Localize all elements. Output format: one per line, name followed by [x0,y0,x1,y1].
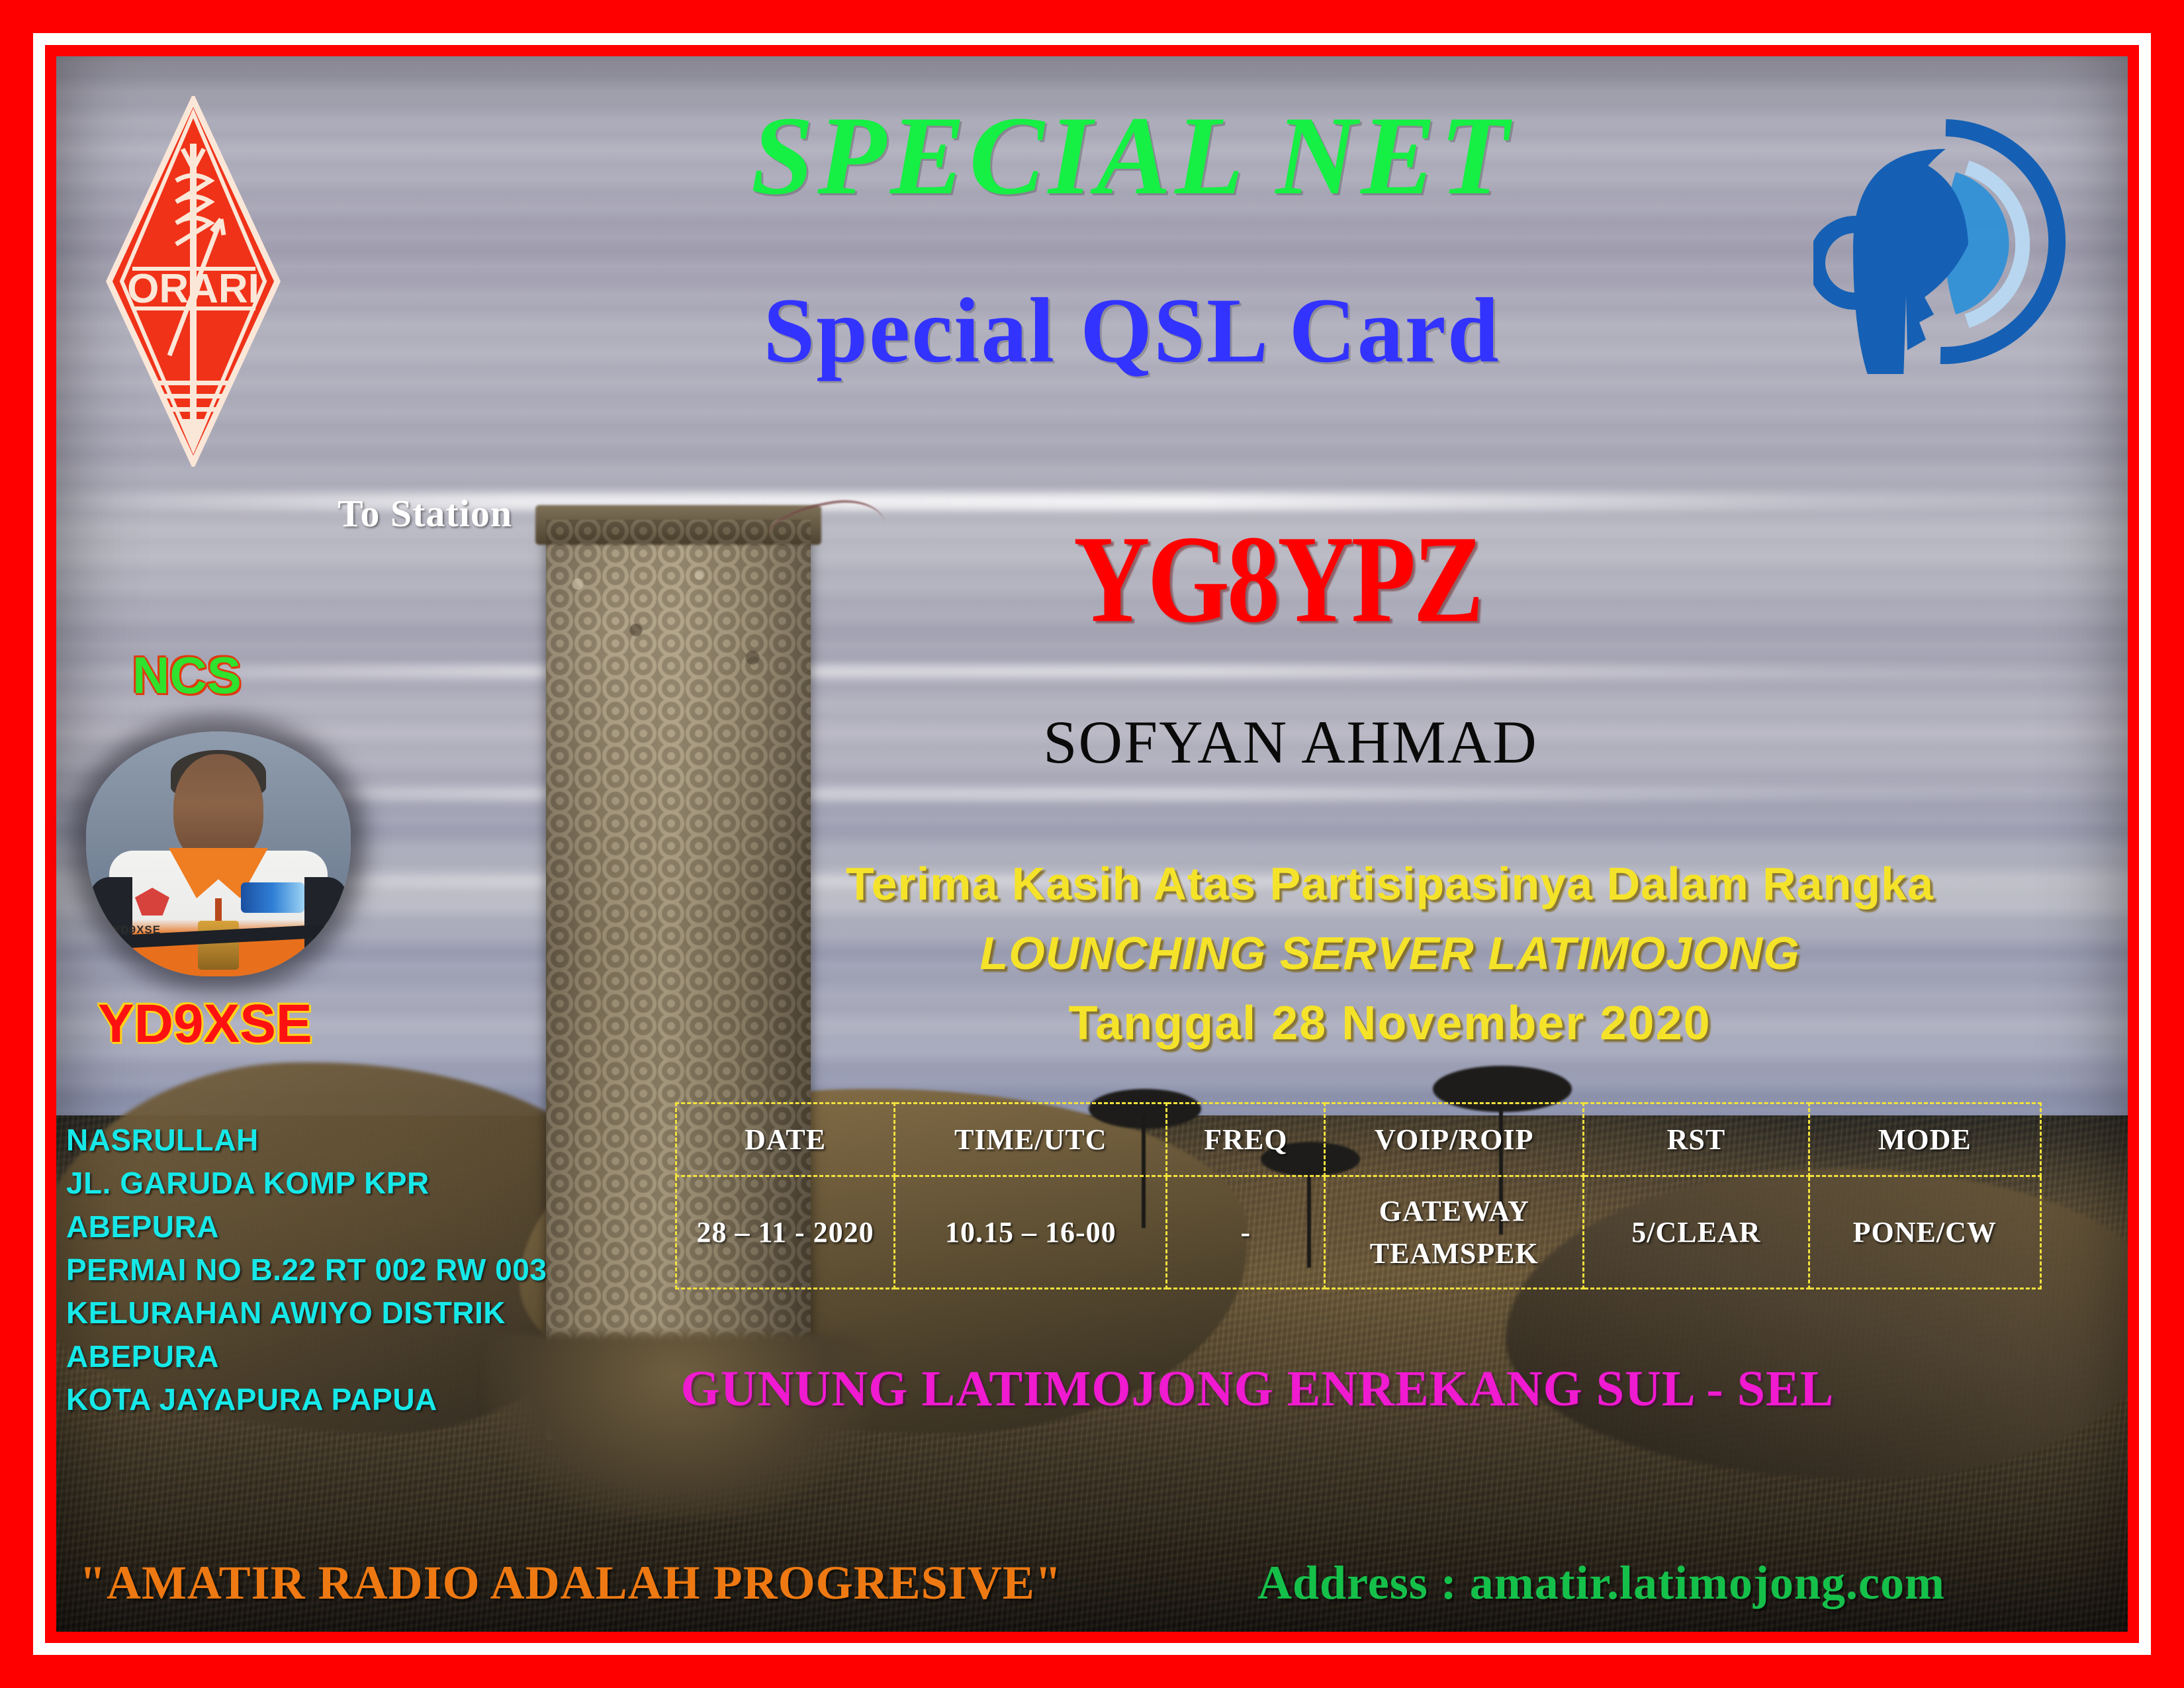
cell-mode: PONE/CW [1809,1176,2040,1289]
table-row: 28 – 11 - 2020 10.15 – 16-00 - GATEWAY T… [676,1176,2041,1289]
address-line: ABEPURA [66,1205,547,1248]
thanks-line-3: Tanggal 28 November 2020 [761,996,2019,1051]
operator-name: SOFYAN AHMAD [860,712,1721,773]
address-line: KOTA JAYAPURA PAPUA [66,1378,547,1421]
photo-shirt-callsign: YD9XSE [113,923,161,937]
cell-time-utc: 10.15 – 16-00 [895,1176,1167,1289]
footer-slogan: "AMATIR RADIO ADALAH PROGRESIVE" [79,1556,1062,1611]
cell-voip-roip-line1: GATEWAY [1326,1190,1582,1233]
cell-freq: - [1167,1176,1325,1289]
cell-date: 28 – 11 - 2020 [676,1176,895,1289]
column-header-voip-roip: VOIP/ROIP [1325,1103,1584,1176]
location-line: GUNUNG LATIMOJONG ENREKANG SUL - SEL [629,1360,1886,1418]
subtitle-special-qsl-card: Special QSL Card [0,285,2184,377]
address-line: NASRULLAH [66,1119,547,1162]
ncs-label: NCS [132,645,242,706]
qso-log-table: DATE TIME/UTC FREQ VOIP/ROIP RST MODE 28… [675,1102,2042,1289]
address-line: KELURAHAN AWIYO DISTRIK [66,1291,547,1335]
station-address-block: NASRULLAH JL. GARUDA KOMP KPR ABEPURA PE… [66,1119,547,1421]
table-header-row: DATE TIME/UTC FREQ VOIP/ROIP RST MODE [676,1103,2041,1176]
page-title-special-net: SPECIAL NET [0,99,2184,212]
qsl-card: ORARI SPECIAL NET Special QSL Card To St… [0,0,2184,1688]
photo-id-card [198,921,239,970]
photo-shirt-patch [241,882,304,913]
cell-voip-roip-line2: TEAMSPEK [1326,1233,1582,1275]
address-line: JL. GARUDA KOMP KPR [66,1162,547,1205]
station-callsign: YG8YPZ [979,516,1575,641]
cell-rst: 5/CLEAR [1584,1176,1809,1289]
column-header-time-utc: TIME/UTC [895,1103,1167,1176]
address-line: ABEPURA [66,1335,547,1378]
column-header-date: DATE [676,1103,895,1176]
ncs-callsign: YD9XSE [98,993,312,1055]
column-header-rst: RST [1584,1103,1809,1176]
footer-web-address: Address : amatir.latimojong.com [1257,1556,1945,1611]
address-line: PERMAI NO B.22 RT 002 RW 003 [66,1248,547,1291]
column-header-mode: MODE [1809,1103,2040,1176]
to-station-label: To Station [338,491,512,536]
column-header-freq: FREQ [1167,1103,1325,1176]
ncs-operator-photo: YD9XSE [86,731,351,976]
thanks-line-1: Terima Kasih Atas Partisipasinya Dalam R… [761,857,2019,910]
thanks-line-2: LOUNCHING SERVER LATIMOJONG [761,927,2019,980]
cell-voip-roip: GATEWAY TEAMSPEK [1325,1176,1584,1289]
